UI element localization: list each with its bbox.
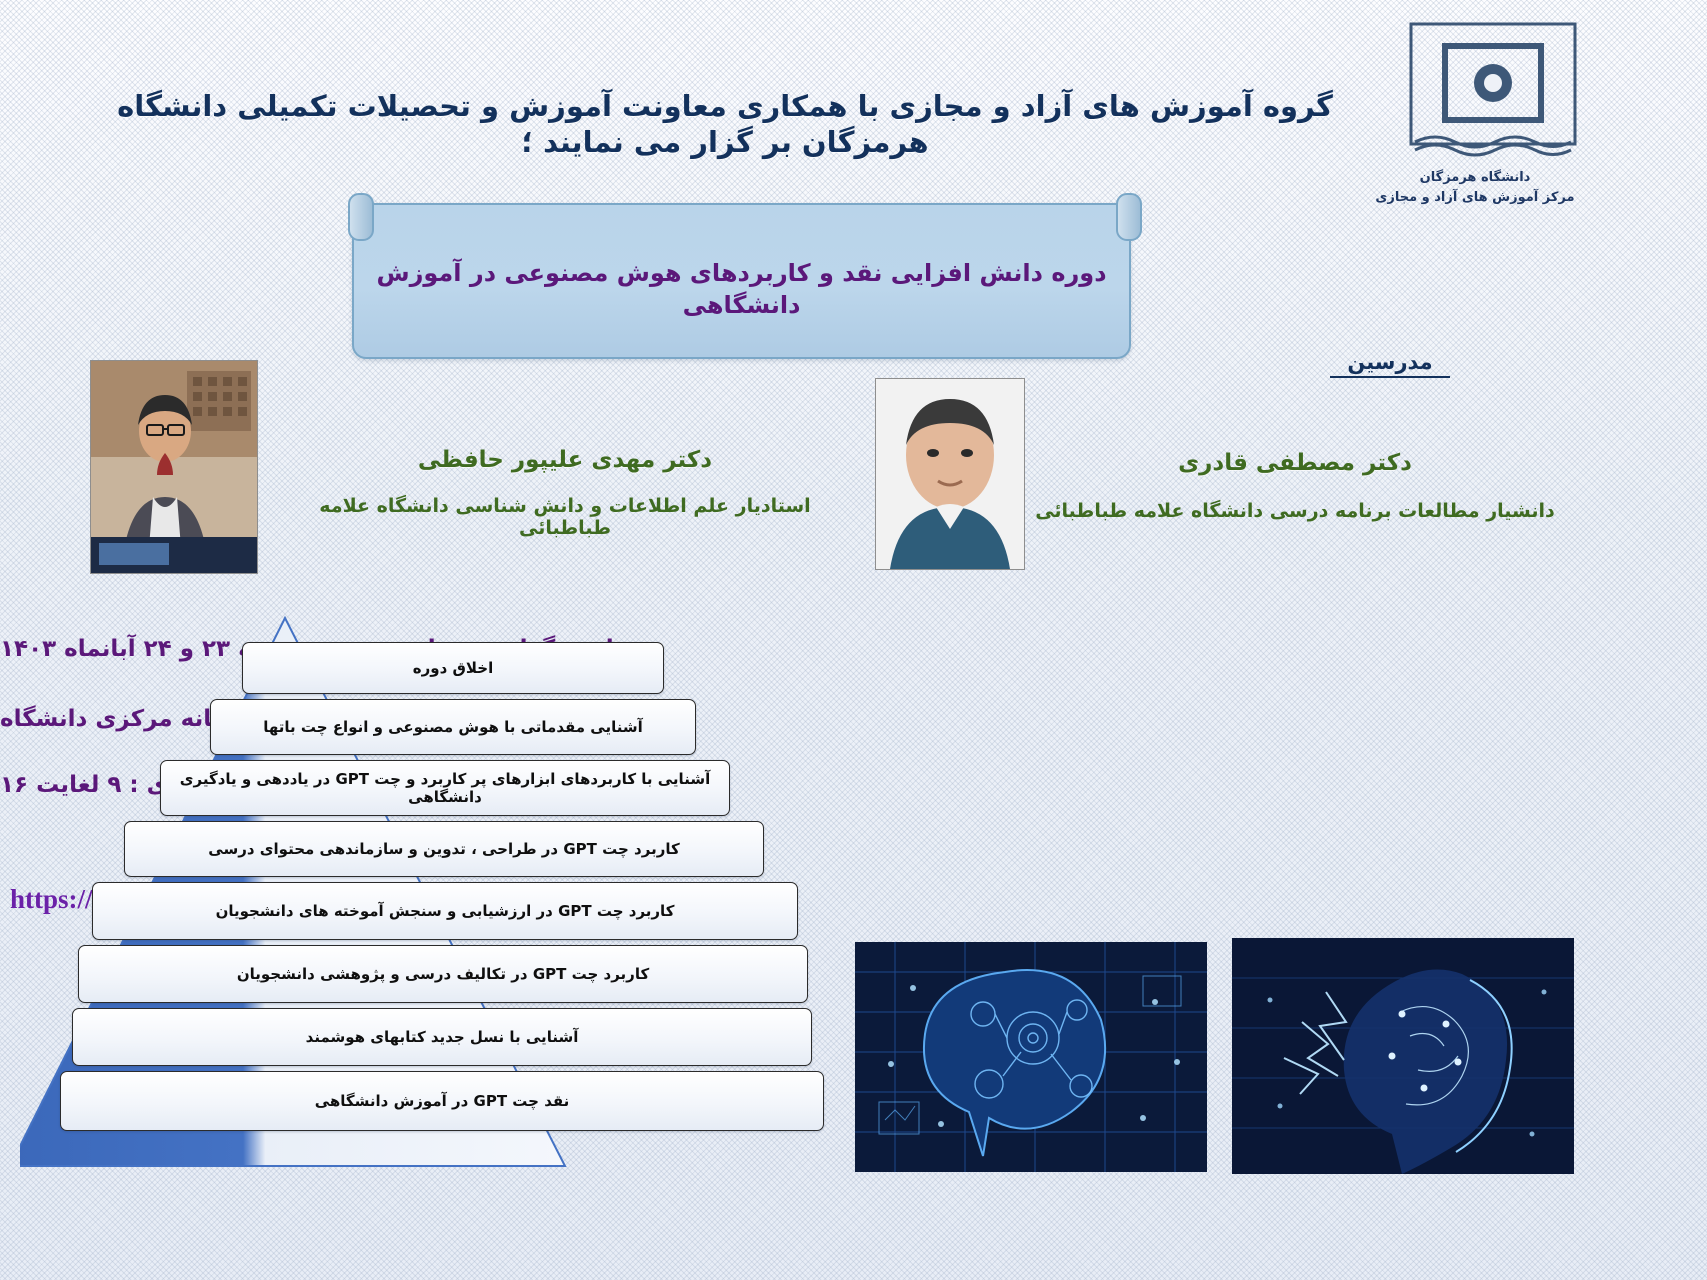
instructor-1-name: دکتر مصطفی قادری (1135, 450, 1455, 476)
university-logo (1405, 20, 1581, 160)
poster-canvas: دانشگاه هرمزگان مرکز آموزش های آزاد و مج… (0, 0, 1707, 1280)
logo-icon (1405, 20, 1581, 160)
scroll-curl-right-icon (1116, 193, 1142, 241)
instructor-portrait-photo (876, 379, 1024, 569)
course-title-banner: دوره دانش افزایی نقد و کاربردهای هوش مصن… (352, 203, 1131, 359)
avatar-instructor-1 (875, 378, 1025, 570)
instructor-2-name: دکتر مهدی علیپور حافظی (405, 447, 725, 473)
logo-caption-line1: دانشگاه هرمزگان (1355, 168, 1595, 188)
instructors-heading: مدرسین (1330, 350, 1450, 378)
logo-caption: دانشگاه هرمزگان مرکز آموزش های آزاد و مج… (1355, 168, 1595, 208)
ai-neural-human-icon (1232, 938, 1574, 1174)
pyramid-row-7: آشنایی با نسل جدید کتابهای هوشمند (72, 1008, 812, 1066)
ai-brain-circuit-image (855, 942, 1207, 1172)
logo-caption-line2: مرکز آموزش های آزاد و مجازی (1355, 188, 1595, 208)
ai-brain-circuit-icon (855, 942, 1207, 1172)
pyramid-row-6: کاربرد چت GPT در تکالیف درسی و پژوهشی دا… (78, 945, 808, 1003)
ai-neural-human-image (1232, 938, 1574, 1174)
pyramid-row-5: کاربرد چت GPT در ارزشیابی و سنجش آموخته … (92, 882, 798, 940)
instructor-lecture-photo (91, 361, 257, 573)
pyramid-row-4: کاربرد چت GPT در طراحی ، تدوین و سازماند… (124, 821, 764, 877)
avatar-instructor-2 (90, 360, 258, 574)
pyramid-row-8: نقد چت GPT در آموزش دانشگاهی (60, 1071, 824, 1131)
instructor-1-role: دانشیار مطالعات برنامه درسی دانشگاه علام… (1035, 500, 1555, 522)
course-topics-pyramid: اخلاق دوره آشنایی مقدماتی با هوش مصنوعی … (20, 612, 850, 1172)
scroll-curl-left-icon (348, 193, 374, 241)
instructor-2-role: استادیار علم اطلاعات و دانش شناسی دانشگا… (275, 495, 855, 539)
course-title: دوره دانش افزایی نقد و کاربردهای هوش مصن… (354, 257, 1129, 322)
pyramid-row-3: آشنایی با کاربردهای ابزارهای پر کاربرد و… (160, 760, 730, 816)
page-title: گروه آموزش های آزاد و مجازی با همکاری مع… (60, 88, 1390, 161)
pyramid-row-1: اخلاق دوره (242, 642, 664, 694)
pyramid-row-2: آشنایی مقدماتی با هوش مصنوعی و انواع چت … (210, 699, 696, 755)
